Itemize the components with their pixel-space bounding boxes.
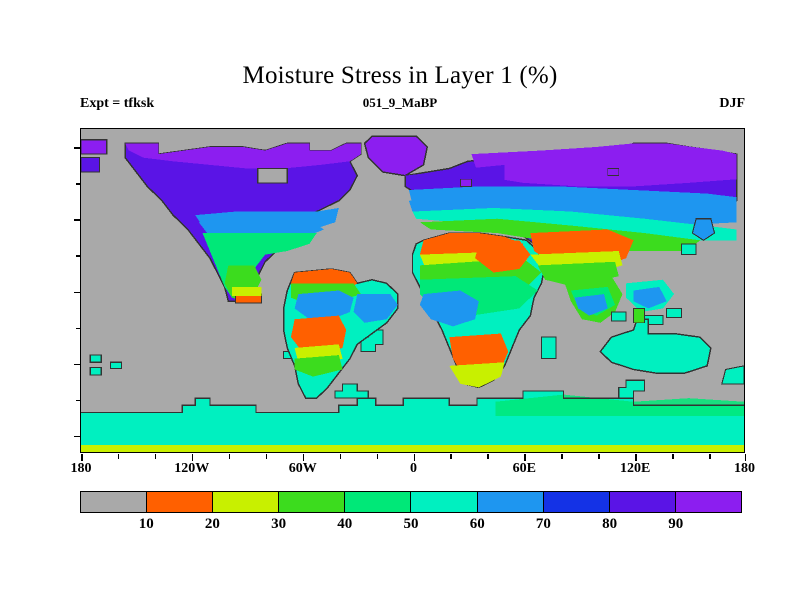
- x-tick-minor-2: [155, 454, 157, 459]
- x-axis-label-120e: 120E: [620, 461, 650, 477]
- y-tick-80n: [74, 147, 81, 149]
- x-axis-label-180e: 180: [734, 461, 755, 477]
- colorbar-label-70: 70: [536, 516, 551, 533]
- x-tick-minor-8: [487, 454, 489, 459]
- x-tick-minor-6: [377, 454, 379, 459]
- x-tick-minor-11: [672, 454, 674, 459]
- x-tick-minor-9: [561, 454, 563, 459]
- x-tick-minor-3: [229, 454, 231, 459]
- x-axis-label-180w: 180: [71, 461, 92, 477]
- colorbar-label-90: 90: [668, 516, 683, 533]
- colorbar-segment-90-100: [675, 492, 741, 512]
- x-tick-minor-12: [709, 454, 711, 459]
- x-axis-label-0: 0: [410, 461, 417, 477]
- colorbar-segment-60-70: [477, 492, 543, 512]
- colorbar-segment-20-30: [212, 492, 278, 512]
- colorbar-segment-70-80: [543, 492, 609, 512]
- x-tick-120w: [192, 454, 194, 461]
- page-title: Moisture Stress in Layer 1 (%): [0, 62, 800, 90]
- x-tick-minor-7: [450, 454, 452, 459]
- colorbar-segment-10-20: [146, 492, 212, 512]
- y-tick-minor-60s: [76, 400, 81, 402]
- colorbar-segment-50-60: [410, 492, 476, 512]
- x-tick-60e: [524, 454, 526, 461]
- map-canvas: [81, 129, 744, 452]
- colorbar: [80, 491, 742, 513]
- x-axis-label-120w: 120W: [174, 461, 209, 477]
- y-tick-80s: [74, 436, 81, 438]
- colorbar-label-60: 60: [470, 516, 485, 533]
- colorbar-label-10: 10: [139, 516, 154, 533]
- colorbar-segment-0-10: [81, 492, 146, 512]
- x-tick-120e: [635, 454, 637, 461]
- x-axis-label-60w: 60W: [289, 461, 317, 477]
- x-tick-minor-1: [118, 454, 120, 459]
- experiment-label: Expt = tfksk: [80, 96, 154, 112]
- season-label: DJF: [719, 96, 745, 112]
- y-tick-40n: [74, 219, 81, 221]
- y-tick-0: [74, 292, 81, 294]
- y-tick-minor-20s: [76, 328, 81, 330]
- colorbar-label-80: 80: [602, 516, 617, 533]
- colorbar-segment-30-40: [278, 492, 344, 512]
- colorbar-label-30: 30: [271, 516, 286, 533]
- x-tick-minor-10: [598, 454, 600, 459]
- y-tick-minor-20n: [76, 255, 81, 257]
- x-axis-label-60e: 60E: [513, 461, 536, 477]
- x-tick-minor-4: [266, 454, 268, 459]
- map-plot-area: 80N 40N 0 40S 80S 180 120W 60W 0 60E 120…: [80, 128, 745, 453]
- x-tick-minor-5: [340, 454, 342, 459]
- x-tick-180e: [745, 454, 747, 461]
- y-tick-minor-60n: [76, 183, 81, 185]
- colorbar-segment-40-50: [344, 492, 410, 512]
- y-tick-40s: [74, 364, 81, 366]
- x-tick-0: [414, 454, 416, 461]
- moisture-stress-contour-map: [81, 129, 744, 452]
- colorbar-label-40: 40: [337, 516, 352, 533]
- colorbar-label-50: 50: [404, 516, 419, 533]
- colorbar-label-20: 20: [205, 516, 220, 533]
- x-tick-60w: [303, 454, 305, 461]
- x-tick-180w: [81, 454, 83, 461]
- colorbar-segment-80-90: [609, 492, 675, 512]
